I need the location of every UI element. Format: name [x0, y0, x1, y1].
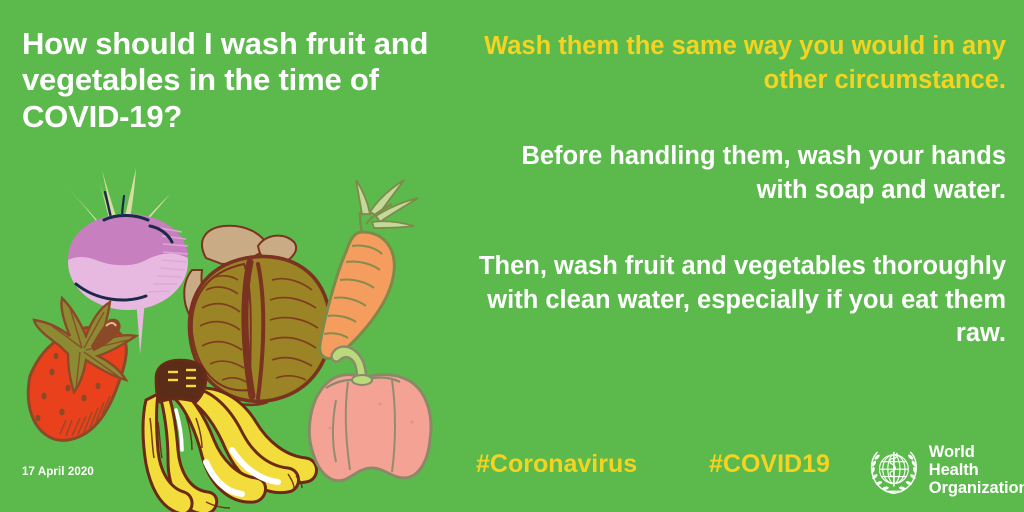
who-wordmark: World HealthOrganization [929, 444, 1024, 497]
poster-canvas: How should I wash fruit and vegetables i… [0, 0, 1024, 512]
hashtag-coronavirus[interactable]: #Coronavirus [476, 450, 637, 479]
page-title: How should I wash fruit and vegetables i… [22, 26, 462, 135]
strawberry-icon [28, 298, 136, 440]
who-wordmark-line-1: World Health [929, 443, 979, 479]
lead-statement: Wash them the same way you would in any … [470, 30, 1006, 98]
message-column: Wash them the same way you would in any … [470, 30, 1006, 351]
bell-pepper-icon [309, 347, 431, 481]
who-wordmark-line-2: Organization [929, 479, 1024, 497]
advice-paragraph-2: Then, wash fruit and vegetables thorough… [470, 250, 1006, 352]
carrot-icon [320, 180, 418, 358]
produce-illustration [0, 150, 460, 512]
hashtag-covid19[interactable]: #COVID19 [709, 450, 830, 479]
date-stamp: 17 April 2020 [22, 466, 94, 478]
advice-paragraph-1: Before handling them, wash your hands wi… [470, 140, 1006, 208]
who-logo: World HealthOrganization [866, 443, 1024, 499]
who-emblem-icon [866, 443, 922, 499]
